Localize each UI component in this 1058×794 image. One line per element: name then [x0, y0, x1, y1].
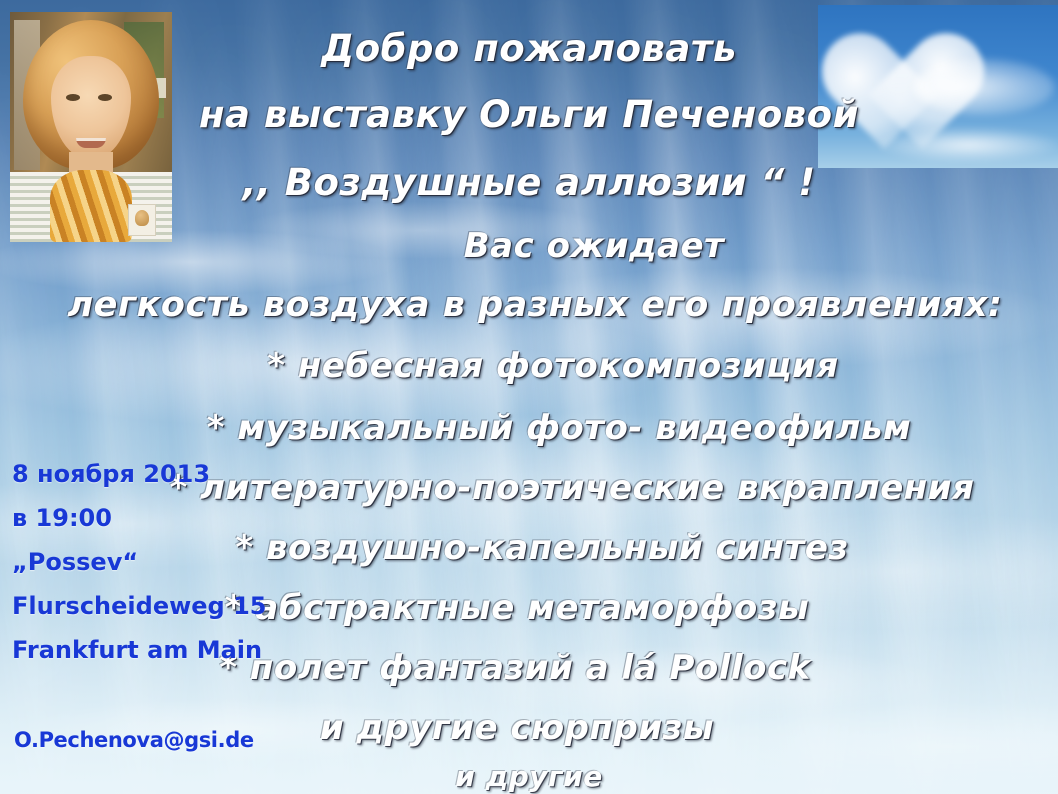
closing-partial-line: и другие	[0, 762, 1058, 792]
subtitle-line: легкость воздуха в разных его проявления…	[12, 280, 1058, 330]
intro-line: Вас ожидает	[130, 222, 1058, 270]
event-info-block: 8 ноября 2013 в 19:00 „Possev“ Flurschei…	[12, 452, 302, 672]
headline-line-3: ,, Воздушные аллюзии “ !	[0, 158, 1058, 208]
bullet-item-1: * небесная фотокомпозиция	[48, 342, 1058, 390]
event-venue: „Possev“	[12, 540, 302, 584]
event-street: Flurscheideweg 15	[12, 584, 302, 628]
headline-line-2: на выставку Ольги Печеновой	[0, 90, 1058, 140]
event-time: в 19:00	[12, 496, 302, 540]
event-city: Frankfurt am Main	[12, 628, 302, 672]
poster-text-block: Добро пожаловать на выставку Ольги Печен…	[0, 0, 1058, 792]
event-date: 8 ноября 2013	[12, 452, 302, 496]
headline-line-1: Добро пожаловать	[0, 24, 1058, 74]
bullet-item-2: * музыкальный фото- видеофильм	[60, 404, 1058, 452]
poster-canvas: Добро пожаловать на выставку Ольги Печен…	[0, 0, 1058, 794]
contact-email[interactable]: O.Pechenova@gsi.de	[14, 728, 254, 752]
